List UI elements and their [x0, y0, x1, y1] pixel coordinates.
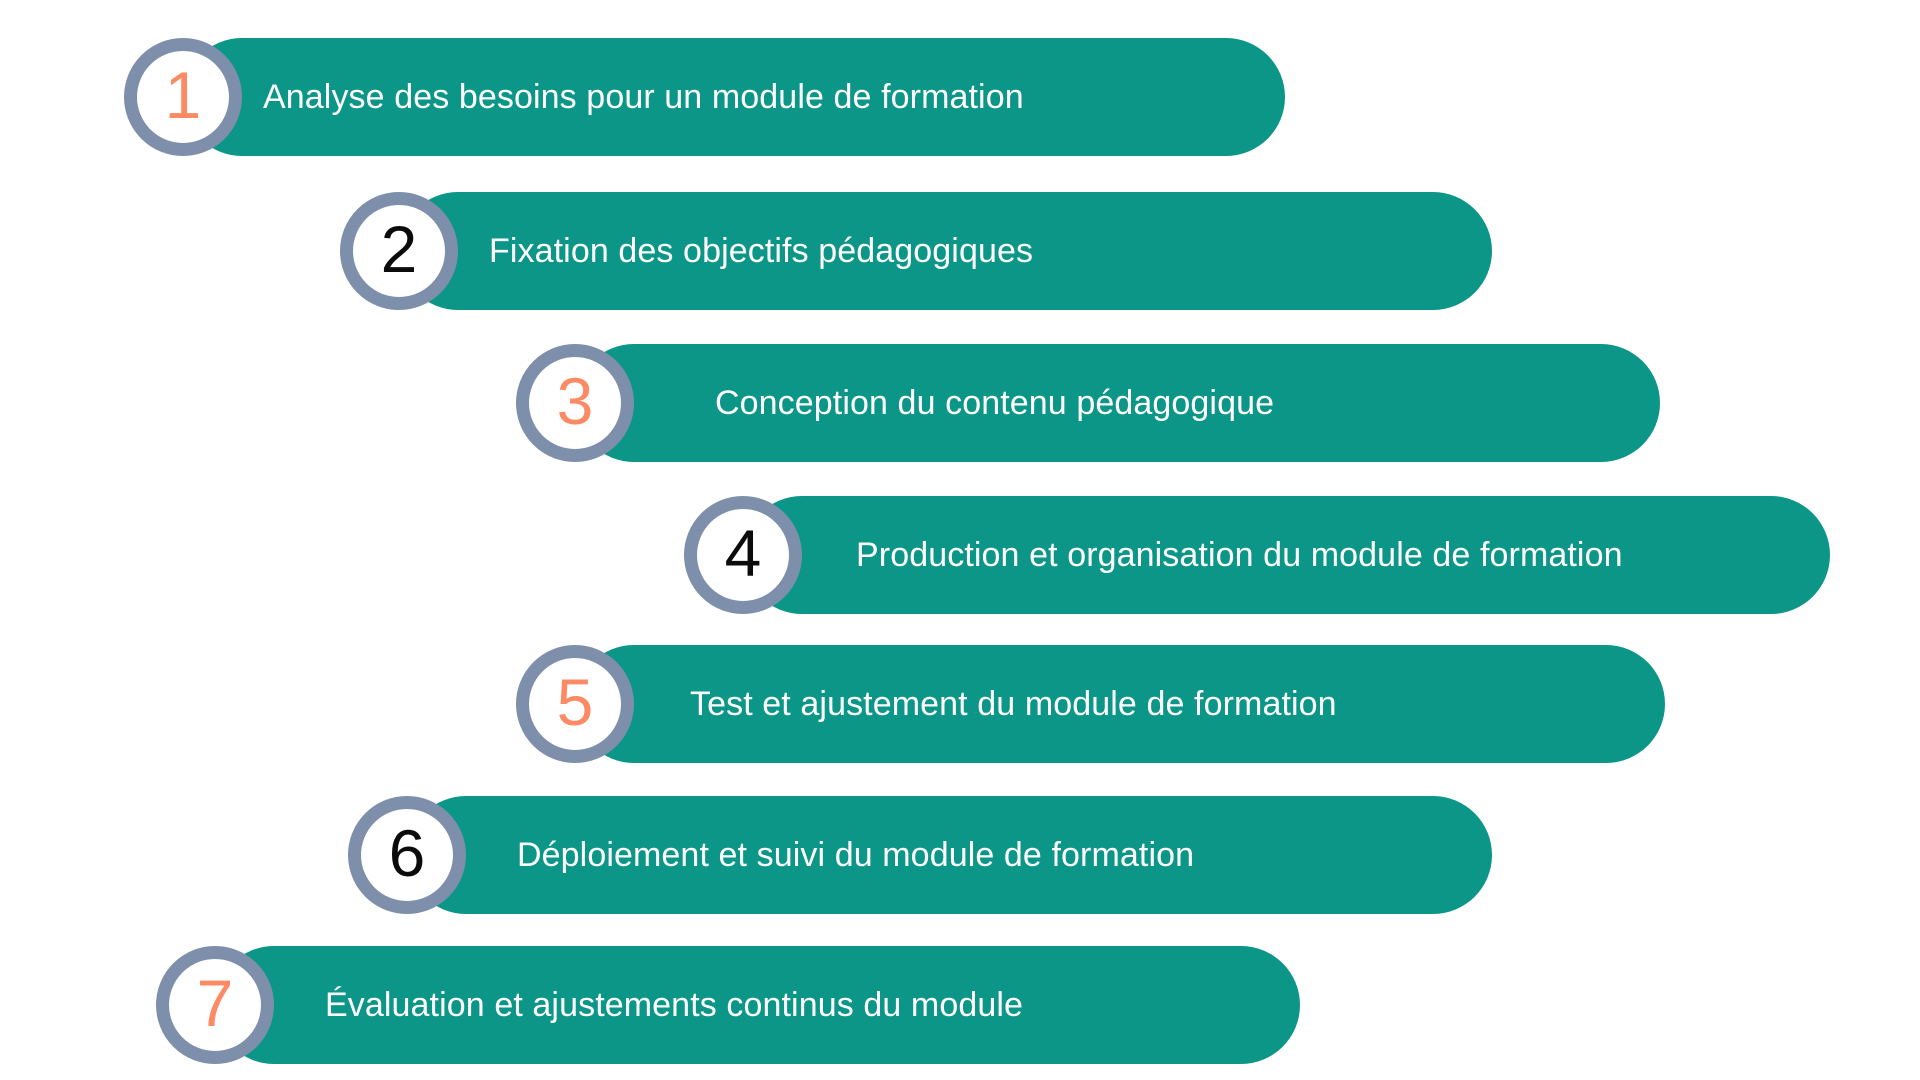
- step-bar-3[interactable]: Conception du contenu pédagogique: [575, 344, 1660, 462]
- step-bar-6[interactable]: Déploiement et suivi du module de format…: [407, 796, 1492, 914]
- step-bar-2[interactable]: Fixation des objectifs pédagogiques: [399, 192, 1492, 310]
- step-badge-5[interactable]: 5: [516, 645, 634, 763]
- step-label-1: Analyse des besoins pour un module de fo…: [263, 80, 1024, 114]
- step-number-1: 1: [165, 62, 202, 128]
- step-number-4: 4: [725, 520, 762, 586]
- step-badge-4[interactable]: 4: [684, 496, 802, 614]
- step-number-6: 6: [389, 820, 426, 886]
- step-badge-1[interactable]: 1: [124, 38, 242, 156]
- step-badge-3[interactable]: 3: [516, 344, 634, 462]
- step-badge-2[interactable]: 2: [340, 192, 458, 310]
- step-bar-7[interactable]: Évaluation et ajustements continus du mo…: [215, 946, 1300, 1064]
- step-label-3: Conception du contenu pédagogique: [715, 386, 1274, 420]
- step-bar-4[interactable]: Production et organisation du module de …: [743, 496, 1830, 614]
- step-badge-7[interactable]: 7: [156, 946, 274, 1064]
- step-number-5: 5: [557, 669, 594, 735]
- step-label-4: Production et organisation du module de …: [856, 538, 1623, 572]
- step-label-5: Test et ajustement du module de formatio…: [690, 687, 1337, 721]
- step-bar-1[interactable]: Analyse des besoins pour un module de fo…: [183, 38, 1285, 156]
- step-number-3: 3: [557, 368, 594, 434]
- step-badge-6[interactable]: 6: [348, 796, 466, 914]
- step-number-7: 7: [197, 970, 234, 1036]
- step-label-2: Fixation des objectifs pédagogiques: [489, 234, 1033, 268]
- step-label-7: Évaluation et ajustements continus du mo…: [325, 988, 1023, 1022]
- step-bar-5[interactable]: Test et ajustement du module de formatio…: [575, 645, 1665, 763]
- step-number-2: 2: [381, 216, 418, 282]
- process-diagram: Analyse des besoins pour un module de fo…: [0, 0, 1920, 1080]
- step-label-6: Déploiement et suivi du module de format…: [517, 838, 1194, 872]
